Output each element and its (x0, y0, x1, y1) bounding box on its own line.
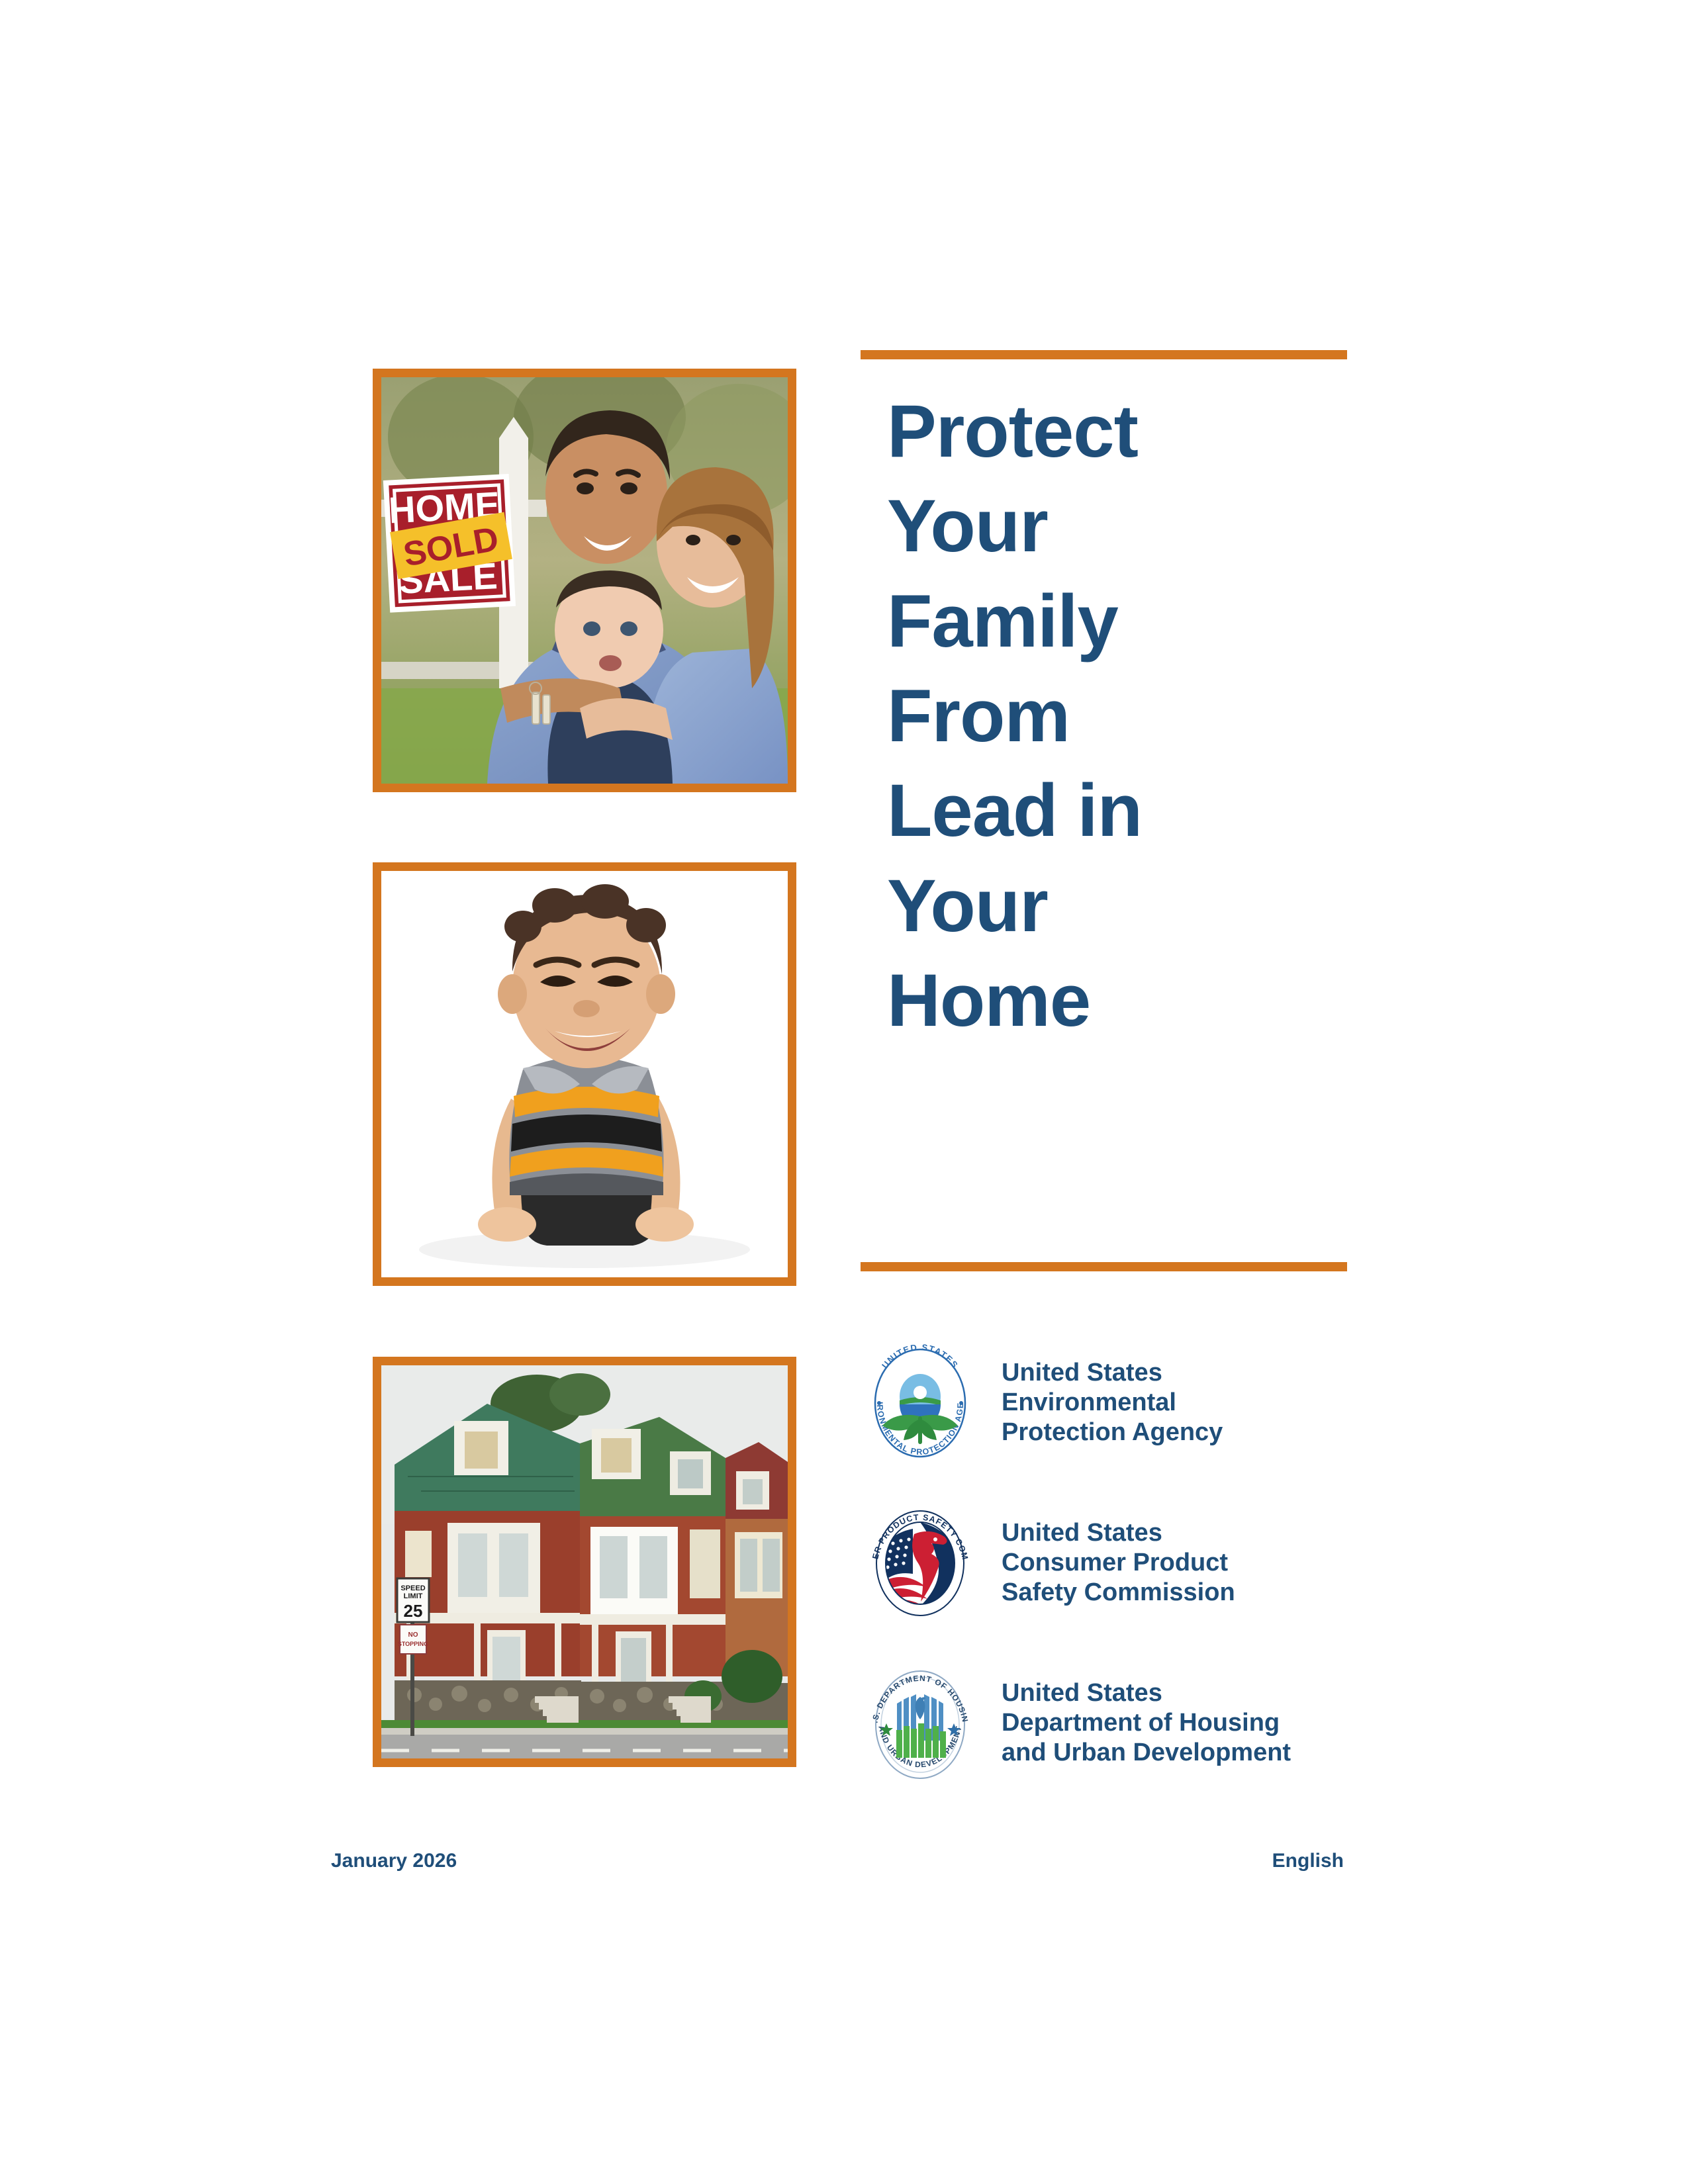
epa-seal-icon: UNITED STATES ENVIRONMENTAL PROTECTION A… (857, 1342, 983, 1461)
cpsc-line-3: Safety Commission (1002, 1578, 1360, 1608)
title-line-5: Lead in (887, 763, 1364, 858)
photo-family-image: HOME SALE SOLD (381, 377, 788, 784)
agency-list: UNITED STATES ENVIRONMENTAL PROTECTION A… (857, 1342, 1360, 1823)
photo-toddler-image (381, 871, 788, 1277)
photo-row-houses-image: SPEED LIMIT 25 NO STOPPING (381, 1365, 788, 1758)
svg-text:LIMIT: LIMIT (404, 1592, 423, 1600)
family-photo-artwork: HOME SALE SOLD (381, 377, 788, 784)
epa-line-1: United States (1002, 1358, 1360, 1388)
epa-line-2: Environmental (1002, 1388, 1360, 1418)
cpsc-line-1: United States (1002, 1518, 1360, 1548)
footer-language: English (1251, 1850, 1344, 1872)
toddler-photo-artwork (381, 871, 788, 1277)
footer-date: January 2026 (331, 1850, 457, 1872)
agency-row-epa: UNITED STATES ENVIRONMENTAL PROTECTION A… (857, 1342, 1360, 1502)
cpsc-seal-icon: CONSUMER PRODUCT SAFETY COMMISSION UNITE… (857, 1502, 983, 1621)
title-line-7: Home (887, 953, 1364, 1048)
row-houses-photo-artwork: SPEED LIMIT 25 NO STOPPING (381, 1365, 788, 1758)
agency-row-hud: U.S. DEPARTMENT OF HOUSING AND URBAN DEV… (857, 1662, 1360, 1823)
hud-line-3: and Urban Development (1002, 1738, 1360, 1768)
title-rule-top (861, 350, 1347, 359)
title-line-4: From (887, 668, 1364, 763)
title-line-1: Protect (887, 384, 1364, 478)
title-line-3: Family (887, 574, 1364, 668)
agency-name-hud: United States Department of Housing and … (983, 1662, 1360, 1767)
title-line-6: Your (887, 858, 1364, 953)
agency-name-epa: United States Environmental Protection A… (983, 1342, 1360, 1447)
svg-text:25: 25 (404, 1601, 423, 1621)
photo-family-with-baby: HOME SALE SOLD (373, 369, 796, 792)
photo-smiling-toddler (373, 862, 796, 1286)
title-line-2: Your (887, 478, 1364, 573)
cpsc-line-2: Consumer Product (1002, 1548, 1360, 1578)
svg-text:NO: NO (408, 1631, 418, 1639)
hud-seal-icon: U.S. DEPARTMENT OF HOUSING AND URBAN DEV… (857, 1662, 983, 1782)
photo-brick-row-houses: SPEED LIMIT 25 NO STOPPING (373, 1357, 796, 1767)
epa-line-3: Protection Agency (1002, 1418, 1360, 1447)
hud-seal-artwork: U.S. DEPARTMENT OF HOUSING AND URBAN DEV… (857, 1662, 983, 1782)
epa-seal-artwork: UNITED STATES ENVIRONMENTAL PROTECTION A… (857, 1342, 983, 1461)
page-title: Protect Your Family From Lead in Your Ho… (887, 384, 1364, 1048)
agency-row-cpsc: CONSUMER PRODUCT SAFETY COMMISSION UNITE… (857, 1502, 1360, 1662)
agency-name-cpsc: United States Consumer Product Safety Co… (983, 1502, 1360, 1607)
title-rule-bottom (861, 1262, 1347, 1271)
svg-text:SPEED: SPEED (400, 1584, 425, 1592)
hud-line-2: Department of Housing (1002, 1708, 1360, 1738)
hud-line-1: United States (1002, 1678, 1360, 1708)
document-page: HOME SALE SOLD (0, 0, 1688, 2184)
cpsc-seal-artwork: CONSUMER PRODUCT SAFETY COMMISSION UNITE… (857, 1502, 983, 1621)
svg-text:STOPPING: STOPPING (398, 1641, 428, 1647)
